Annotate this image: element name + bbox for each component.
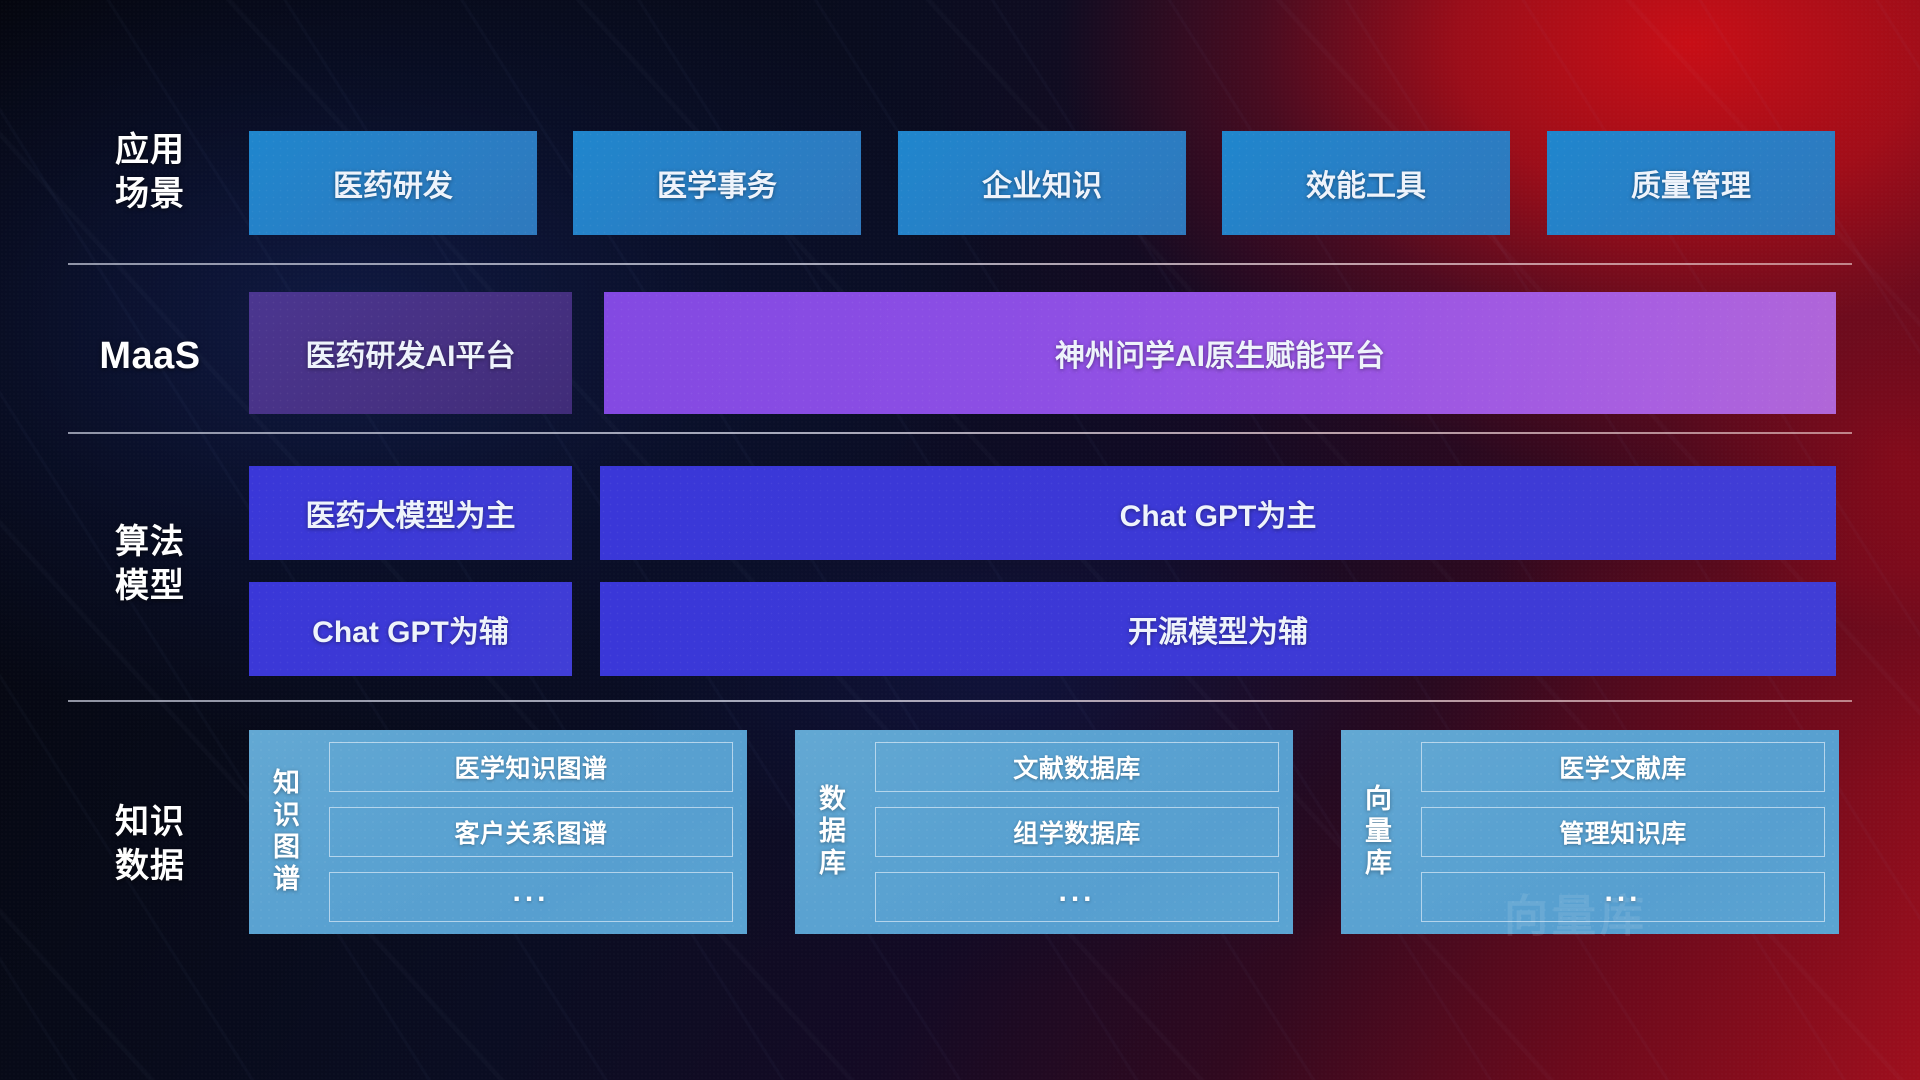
row-divider-2 [68,432,1852,434]
knowledge-group-knowledge-graph: 知识图谱 医学知识图谱 客户关系图谱 ... [249,730,747,934]
algo-box-chatgpt-secondary[interactable]: Chat GPT为辅 [249,582,572,676]
app-card-quality-management[interactable]: 质量管理 [1547,131,1835,235]
knowledge-group-database: 数据库 文献数据库 组学数据库 ... [795,730,1293,934]
knowledge-item-label: ... [1604,875,1641,909]
row-divider-1 [68,263,1852,265]
knowledge-item-more[interactable]: ... [875,872,1279,922]
row-label-application-scenario: 应用 场景 [84,128,216,216]
algo-box-pharma-large-model-primary[interactable]: 医药大模型为主 [249,466,572,560]
knowledge-item-label: 文献数据库 [1013,749,1141,785]
algo-box-opensource-secondary[interactable]: 开源模型为辅 [600,582,1836,676]
maas-platform-pharma-rd[interactable]: 医药研发AI平台 [249,292,572,414]
algo-box-label: 开源模型为辅 [1128,607,1308,651]
row-label-knowledge-data: 知识 数据 [84,800,216,888]
knowledge-group-title-text: 知识图谱 [273,768,301,895]
app-card-medical-affairs[interactable]: 医学事务 [573,131,861,235]
knowledge-item[interactable]: 文献数据库 [875,742,1279,792]
row-label-algorithm-model: 算法 模型 [84,520,216,608]
algo-box-label: Chat GPT为辅 [312,607,509,651]
app-card-enterprise-knowledge[interactable]: 企业知识 [898,131,1186,235]
app-card-label: 质量管理 [1631,161,1751,205]
knowledge-group-title: 向量库 [1351,742,1407,922]
app-card-pharma-rd[interactable]: 医药研发 [249,131,537,235]
app-card-label: 效能工具 [1306,161,1426,205]
maas-platform-label: 医药研发AI平台 [306,331,516,375]
algo-box-label: 医药大模型为主 [306,491,516,535]
app-card-efficiency-tools[interactable]: 效能工具 [1222,131,1510,235]
knowledge-group-title-text: 向量库 [1365,784,1393,880]
knowledge-item[interactable]: 管理知识库 [1421,807,1825,857]
knowledge-item[interactable]: 组学数据库 [875,807,1279,857]
knowledge-item-label: 组学数据库 [1013,814,1141,850]
knowledge-item[interactable]: 医学文献库 [1421,742,1825,792]
knowledge-group-title: 数据库 [805,742,861,922]
knowledge-group-title: 知识图谱 [259,742,315,922]
knowledge-item-label: 管理知识库 [1559,814,1687,850]
app-card-label: 医药研发 [333,161,453,205]
diagram-canvas: 应用 场景 医药研发 医学事务 企业知识 效能工具 质量管理 MaaS 医药研发… [0,0,1920,1080]
knowledge-item-more[interactable]: ... [1421,872,1825,922]
knowledge-item-label: 客户关系图谱 [454,814,607,850]
algo-box-chatgpt-primary[interactable]: Chat GPT为主 [600,466,1836,560]
knowledge-group-vector-database: 向量库 医学文献库 管理知识库 ... [1341,730,1839,934]
maas-platform-shenzhou-wenxue[interactable]: 神州问学AI原生赋能平台 [604,292,1836,414]
knowledge-item-more[interactable]: ... [329,872,733,922]
knowledge-item[interactable]: 客户关系图谱 [329,807,733,857]
knowledge-item-label: ... [512,875,549,909]
app-card-label: 医学事务 [657,161,777,205]
row-label-maas: MaaS [84,334,216,378]
knowledge-group-items: 医学知识图谱 客户关系图谱 ... [329,742,733,922]
knowledge-item-label: ... [1058,875,1095,909]
knowledge-item[interactable]: 医学知识图谱 [329,742,733,792]
app-card-label: 企业知识 [982,161,1102,205]
knowledge-item-label: 医学知识图谱 [454,749,607,785]
knowledge-group-items: 医学文献库 管理知识库 ... [1421,742,1825,922]
algo-box-label: Chat GPT为主 [1120,491,1317,535]
row-divider-3 [68,700,1852,702]
knowledge-item-label: 医学文献库 [1559,749,1687,785]
knowledge-group-items: 文献数据库 组学数据库 ... [875,742,1279,922]
maas-platform-label: 神州问学AI原生赋能平台 [1055,331,1385,375]
knowledge-group-title-text: 数据库 [819,784,847,880]
